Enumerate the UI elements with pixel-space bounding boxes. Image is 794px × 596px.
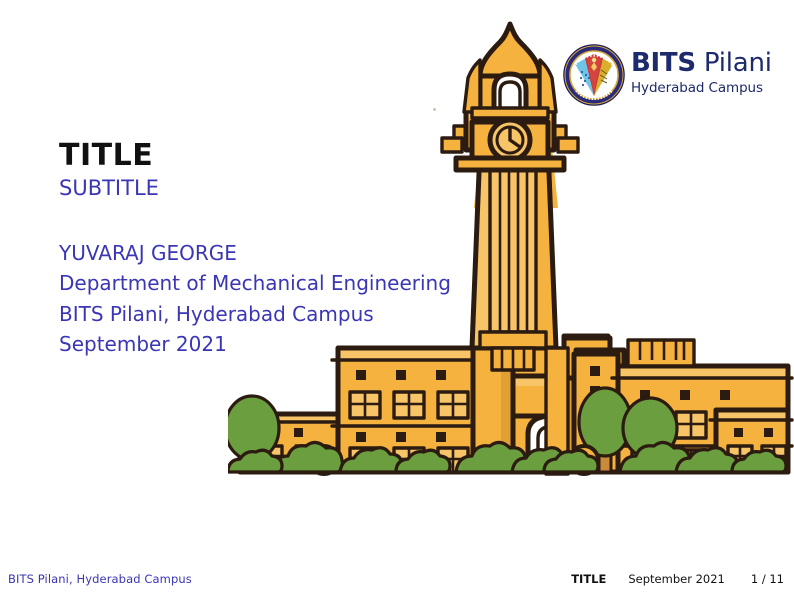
bits-pilani-logo: BITS Pilani Hyderabad Campus [563, 44, 778, 108]
page-subtitle: SUBTITLE [59, 176, 479, 200]
author-department: Department of Mechanical Engineering [59, 268, 499, 298]
presentation-slide: .o{fill:#f5b23e;} .ol{fill:#f7c468;} .od… [0, 0, 794, 596]
author-block: YUVARAJ GEORGE Department of Mechanical … [59, 238, 499, 360]
logo-wordmark: BITS Pilani Hyderabad Campus [631, 50, 772, 96]
footer-right-group: TITLE September 2021 1 / 11 [571, 572, 784, 586]
author-institute: BITS Pilani, Hyderabad Campus [59, 299, 499, 329]
footer-page-number: 1 / 11 [751, 572, 784, 586]
slide-footer: BITS Pilani, Hyderabad Campus TITLE Sept… [0, 566, 794, 596]
footer-title: TITLE [571, 572, 606, 586]
tower-dome-cupola [464, 24, 556, 118]
footer-institute: BITS Pilani, Hyderabad Campus [8, 572, 192, 586]
logo-campus-line: Hyderabad Campus [631, 82, 772, 96]
author-name: YUVARAJ GEORGE [59, 238, 499, 268]
left-mid-wing [332, 348, 482, 472]
author-date: September 2021 [59, 329, 499, 359]
logo-brand-pilani: Pilani [696, 48, 772, 78]
image-speck-artifact [433, 108, 436, 111]
logo-brand-bits: BITS [631, 48, 696, 78]
title-block: TITLE SUBTITLE [59, 140, 479, 200]
right-comb-detail [628, 340, 694, 366]
footer-date: September 2021 [628, 572, 725, 586]
bits-pilani-crest-icon [563, 44, 625, 106]
page-title: TITLE [59, 140, 479, 172]
